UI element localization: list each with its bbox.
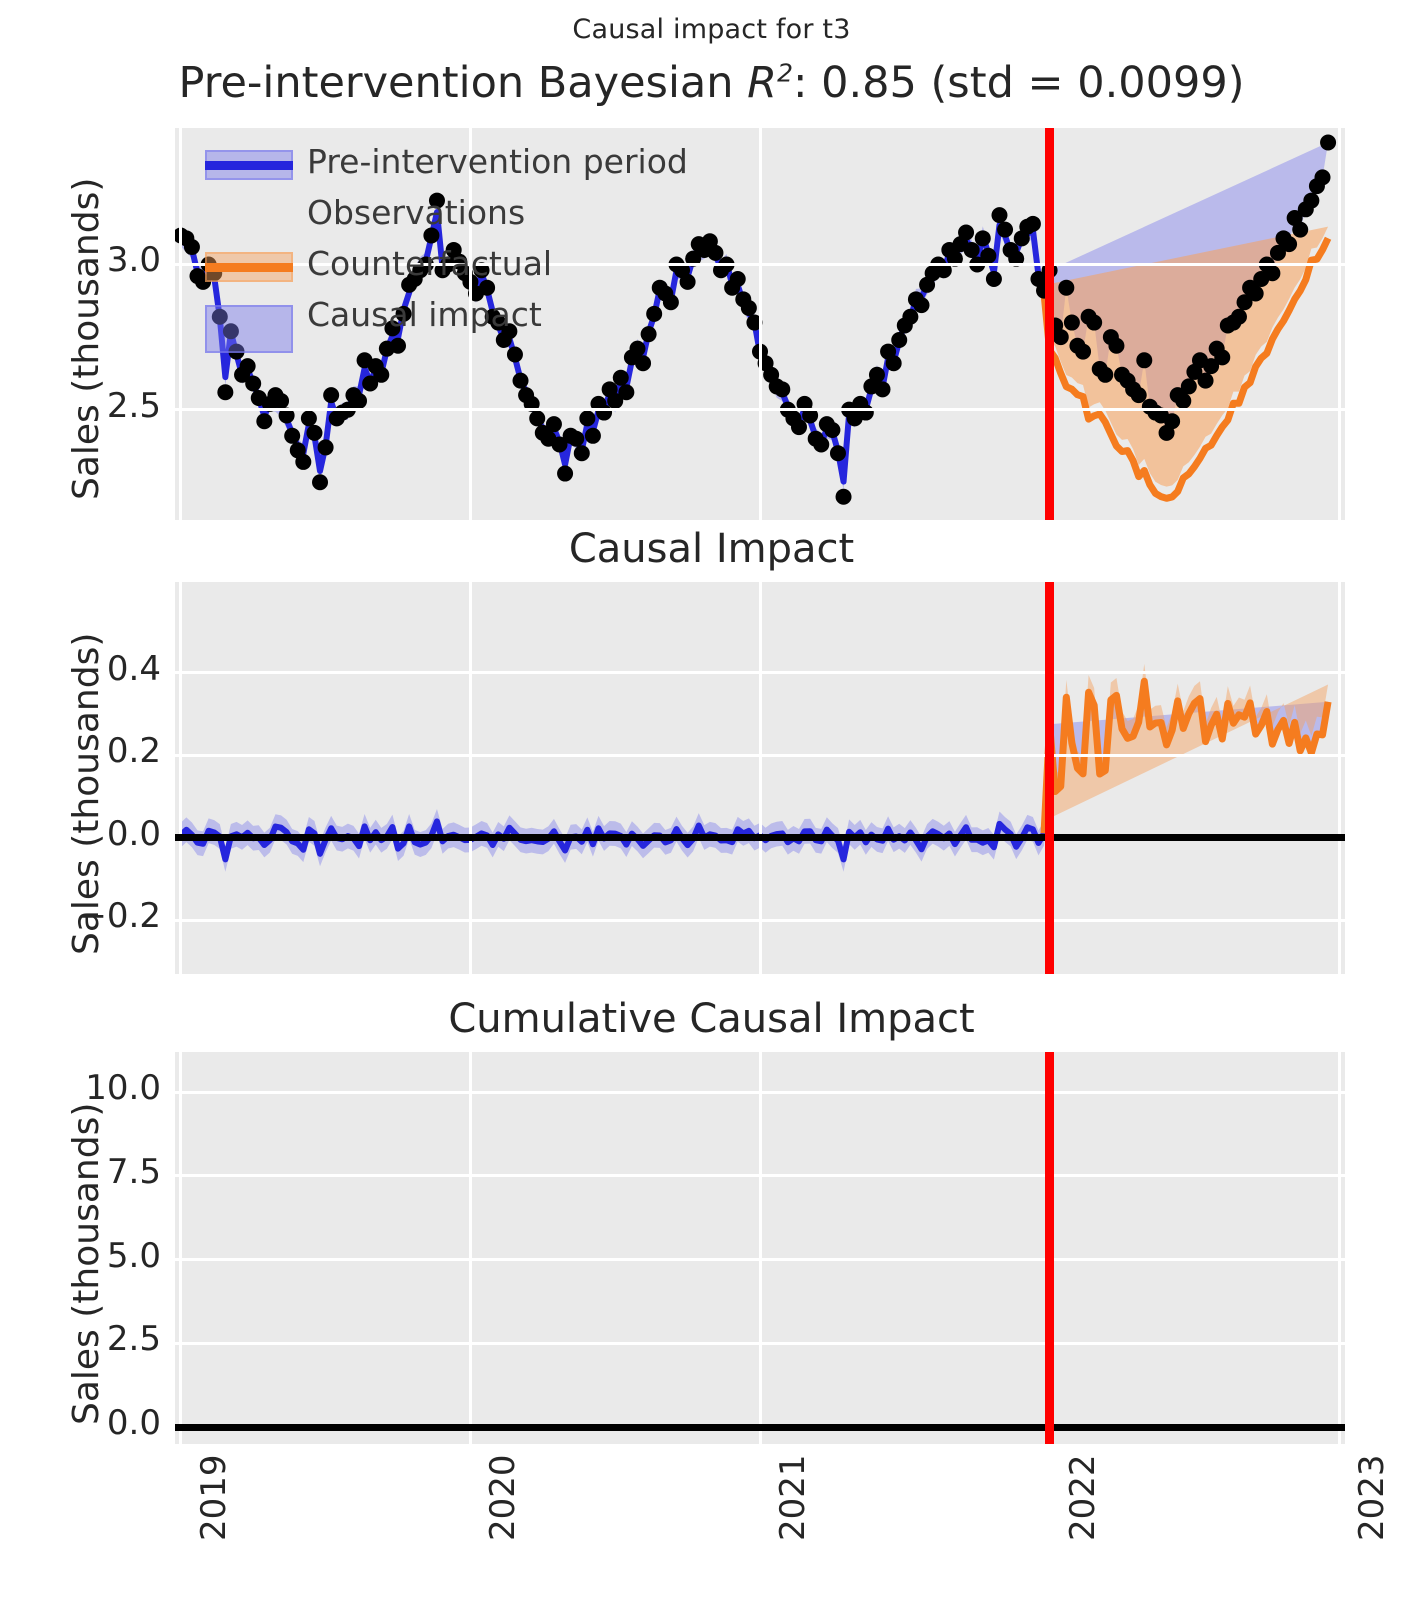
gridline-vertical [1338, 128, 1341, 520]
observation-point [635, 355, 651, 371]
observation-point [557, 466, 573, 482]
observation-point [373, 367, 389, 383]
observation-point [585, 428, 601, 444]
observation-point [546, 416, 562, 432]
observation-point [579, 410, 595, 426]
gridline-horizontal [175, 408, 1345, 411]
y-tick-label: 2.5 [107, 1319, 161, 1359]
legend-line [205, 161, 293, 170]
y-tick-label: 0.2 [107, 731, 161, 771]
observation-point [529, 410, 545, 426]
observation-point [256, 413, 272, 429]
observation-point [284, 428, 300, 444]
gridline-vertical [179, 128, 182, 520]
observation-point [1097, 367, 1113, 383]
observation-point [306, 425, 322, 441]
y-tick-label: 0.0 [107, 1403, 161, 1443]
legend-swatch-band [205, 303, 293, 333]
observation-point [1198, 373, 1214, 389]
gridline-vertical [469, 1052, 472, 1444]
legend-swatch-line-band [205, 150, 293, 180]
observation-point [707, 245, 723, 261]
legend-swatch-line-band [205, 252, 293, 282]
observation-point [217, 384, 233, 400]
observation-point [390, 338, 406, 354]
legend-band [205, 305, 293, 353]
observation-point [741, 300, 757, 316]
causal-impact-figure: Causal impact for t3 Pre-intervention Ba… [0, 0, 1423, 1623]
plot-canvas [0, 0, 1423, 1623]
observation-point [1131, 387, 1147, 403]
observation-point [1214, 349, 1230, 365]
legend-line [205, 263, 293, 272]
x-tick-label: 2023 [1352, 1454, 1392, 1541]
gridline-horizontal [175, 754, 1345, 757]
observation-point [1264, 265, 1280, 281]
observation-point [1108, 338, 1124, 354]
observation-point [618, 384, 634, 400]
observation-point [774, 381, 790, 397]
observation-point [574, 445, 590, 461]
observation-point [596, 405, 612, 421]
gridline-vertical [179, 1052, 182, 1444]
observation-point [1292, 222, 1308, 238]
gridline-vertical [759, 1052, 762, 1444]
observation-point [869, 367, 885, 383]
observation-point [902, 309, 918, 325]
x-tick-label: 2021 [773, 1454, 813, 1541]
observation-point [1303, 193, 1319, 209]
gridline-horizontal [175, 671, 1345, 674]
y-tick-label: 2.5 [107, 386, 161, 426]
observation-point [663, 294, 679, 310]
observation-point [1064, 315, 1080, 331]
y-tick-label: 3.0 [107, 240, 161, 280]
observation-point [830, 445, 846, 461]
legend-label: Pre-intervention period [307, 142, 688, 181]
legend-label: Observations [307, 193, 525, 232]
gridline-vertical [179, 582, 182, 974]
observation-point [964, 242, 980, 258]
gridline-horizontal [175, 1174, 1345, 1177]
observation-point [980, 248, 996, 264]
observation-point [507, 346, 523, 362]
legend-label: Causal impact [307, 295, 542, 334]
observation-point [351, 393, 367, 409]
zero-line [175, 1424, 1345, 1431]
observation-point [1331, 0, 1347, 8]
observation-point [1075, 344, 1091, 360]
observation-point [986, 271, 1002, 287]
observation-point [997, 222, 1013, 238]
legend-label: Counterfactual [307, 244, 552, 283]
gridline-horizontal [175, 919, 1345, 922]
observation-point [613, 370, 629, 386]
intervention-line [1045, 128, 1054, 520]
legend-swatch-points [205, 201, 293, 231]
y-tick-label: 10.0 [85, 1068, 161, 1108]
observation-point [1164, 413, 1180, 429]
observation-point [1315, 169, 1331, 185]
observation-point [301, 410, 317, 426]
intervention-line [1045, 1052, 1054, 1444]
gridline-vertical [1338, 582, 1341, 974]
observation-point [836, 489, 852, 505]
intervention-line [1045, 582, 1054, 974]
observation-point [813, 437, 829, 453]
gridline-vertical [469, 582, 472, 974]
x-tick-label: 2022 [1063, 1454, 1103, 1541]
gridline-horizontal [175, 1342, 1345, 1345]
y-tick-label: 7.5 [107, 1152, 161, 1192]
gridline-vertical [759, 582, 762, 974]
observation-point [1181, 378, 1197, 394]
observation-point [886, 355, 902, 371]
gridline-vertical [759, 128, 762, 520]
observation-point [680, 274, 696, 290]
observation-point [1086, 315, 1102, 331]
observation-point [1136, 352, 1152, 368]
x-tick-label: 2020 [483, 1454, 523, 1541]
observation-point [641, 326, 657, 342]
gridline-vertical [1338, 1052, 1341, 1444]
observation-point [914, 297, 930, 313]
observation-point [323, 387, 339, 403]
observation-point [245, 376, 261, 392]
observation-point [1231, 309, 1247, 325]
observation-point [730, 271, 746, 287]
y-tick-label: 5.0 [107, 1236, 161, 1276]
observation-point [295, 454, 311, 470]
observation-point [240, 358, 256, 374]
y-tick-label: 0.0 [107, 814, 161, 854]
observation-point [975, 230, 991, 246]
observation-point [791, 419, 807, 435]
observation-point [1175, 393, 1191, 409]
observation-point [1058, 280, 1074, 296]
y-tick-label: 0.4 [107, 649, 161, 689]
zero-line [175, 834, 1345, 841]
observation-point [1320, 135, 1336, 151]
observation-point [312, 474, 328, 490]
observation-point [646, 306, 662, 322]
observation-point [1281, 236, 1297, 252]
gridline-horizontal [175, 1258, 1345, 1261]
observation-point [513, 373, 529, 389]
observation-point [958, 225, 974, 241]
x-tick-label: 2019 [194, 1454, 234, 1541]
observation-point [568, 431, 584, 447]
observation-point [1248, 286, 1264, 302]
observation-point [858, 405, 874, 421]
observation-point [273, 393, 289, 409]
observation-point [991, 207, 1007, 223]
observation-point [184, 239, 200, 255]
observation-point [1025, 216, 1041, 232]
observation-point [875, 381, 891, 397]
observation-point [629, 341, 645, 357]
observation-point [824, 422, 840, 438]
observation-point [891, 332, 907, 348]
gridline-horizontal [175, 1091, 1345, 1094]
observation-point [1326, 0, 1342, 8]
y-tick-label: −0.2 [78, 896, 161, 936]
observation-point [1053, 329, 1069, 345]
observation-point [318, 439, 334, 455]
